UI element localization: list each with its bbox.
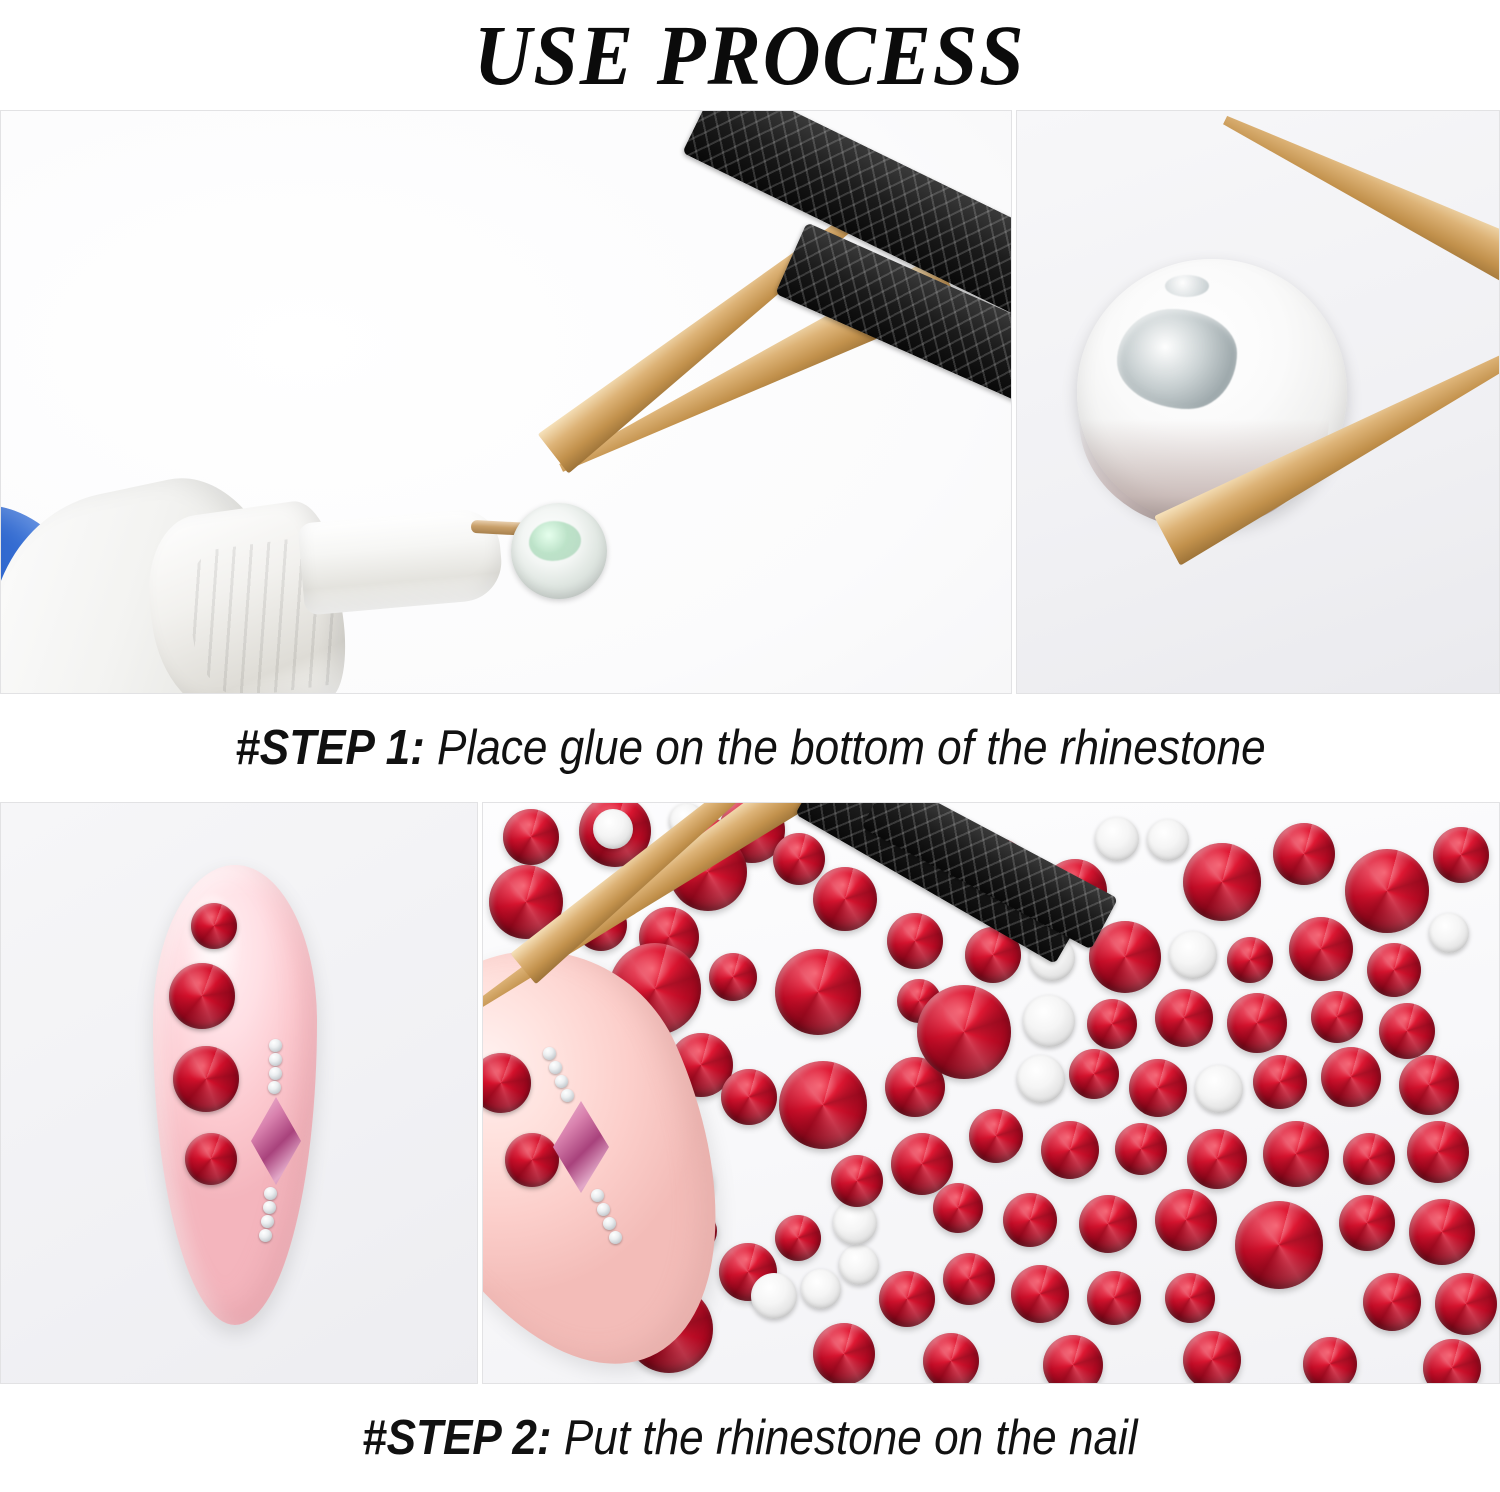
- scatter-rhinestone: [1115, 1123, 1167, 1175]
- scatter-rhinestone: [1155, 1189, 1217, 1251]
- scatter-rhinestone: [1187, 1129, 1247, 1189]
- scatter-rhinestone: [1079, 1195, 1137, 1253]
- scatter-rhinestone: [887, 913, 943, 969]
- scatter-rhinestone: [923, 1333, 979, 1384]
- nail-bead-2: [549, 1061, 562, 1074]
- scatter-rhinestone: [1363, 1273, 1421, 1331]
- nail-bead-8: [609, 1231, 622, 1244]
- scatter-rhinestone: [1129, 1059, 1187, 1117]
- scatter-rhinestone-back: [839, 1245, 879, 1285]
- scatter-rhinestone-back: [1195, 1065, 1243, 1113]
- scatter-rhinestone: [1407, 1121, 1469, 1183]
- scatter-rhinestone: [1263, 1121, 1329, 1187]
- scatter-rhinestone-back: [1147, 819, 1189, 861]
- scatter-rhinestone: [1399, 1055, 1459, 1115]
- scatter-rhinestone: [1289, 917, 1353, 981]
- scatter-rhinestone-back: [1429, 913, 1469, 953]
- finished-nail-photo: [0, 802, 478, 1384]
- scatter-rhinestone: [1379, 1003, 1435, 1059]
- scatter-rhinestone-back: [751, 1273, 797, 1319]
- scatter-rhinestone-back: [1095, 817, 1139, 861]
- scatter-rhinestone-back: [1017, 1055, 1065, 1103]
- scatter-rhinestone: [1041, 1121, 1099, 1179]
- scatter-rhinestone-back: [593, 809, 633, 849]
- scatter-rhinestone: [943, 1253, 995, 1305]
- nail-rhinestone-1: [191, 903, 237, 949]
- scatter-rhinestone: [1273, 823, 1335, 885]
- scatter-rhinestone: [933, 1183, 983, 1233]
- nail-bead-7: [603, 1217, 616, 1230]
- glue-blob-small: [1165, 275, 1209, 297]
- step-1-text: Place glue on the bottom of the rhinesto…: [424, 721, 1265, 775]
- scatter-rhinestone: [709, 953, 757, 1001]
- scatter-rhinestone: [1003, 1193, 1057, 1247]
- scatter-rhinestone: [1303, 1337, 1357, 1384]
- scatter-rhinestone: [779, 1061, 867, 1149]
- scatter-rhinestone: [1155, 989, 1213, 1047]
- nail-bead-1: [269, 1039, 282, 1052]
- nail-bead-6: [597, 1203, 610, 1216]
- scatter-rhinestone: [1345, 849, 1429, 933]
- scatter-rhinestone: [1069, 1049, 1119, 1099]
- scatter-rhinestone: [813, 867, 877, 931]
- nail-rhinestone-2: [169, 963, 235, 1029]
- scatter-rhinestone: [775, 949, 861, 1035]
- step-2-caption: #STEP 2: Put the rhinestone on the nail: [0, 1384, 1500, 1492]
- scatter-rhinestone: [879, 1271, 935, 1327]
- glue-applicator-photo: [0, 110, 1012, 694]
- scatter-rhinestone: [1235, 1201, 1323, 1289]
- nail-bead-4: [268, 1081, 281, 1094]
- scatter-rhinestone: [1339, 1195, 1395, 1251]
- step-1-photo-row: [0, 110, 1500, 694]
- rhinestones-scatter-photo: [482, 802, 1500, 1384]
- scatter-rhinestone: [1253, 1055, 1307, 1109]
- scatter-rhinestone: [775, 1215, 821, 1261]
- scatter-rhinestone: [917, 985, 1011, 1079]
- scatter-rhinestone: [813, 1323, 875, 1384]
- nail-bead-4: [561, 1089, 574, 1102]
- scatter-rhinestone: [831, 1155, 883, 1207]
- scatter-rhinestone: [503, 809, 559, 865]
- rhinestone-glue-closeup-photo: [1016, 110, 1500, 694]
- page-header: USE PROCESS: [0, 0, 1500, 110]
- step-1-label: #STEP 1:: [235, 721, 425, 775]
- nail-rhinestone-4: [185, 1133, 237, 1185]
- nail-bead-8: [259, 1229, 272, 1242]
- nail-bead-3: [555, 1075, 568, 1088]
- step-2-label: #STEP 2:: [362, 1411, 552, 1465]
- scatter-rhinestone: [1183, 1331, 1241, 1384]
- step-2-photo-row: [0, 802, 1500, 1384]
- nail-bead-5: [264, 1187, 277, 1200]
- scatter-rhinestone: [721, 1069, 777, 1125]
- scatter-rhinestone: [1227, 993, 1287, 1053]
- scatter-rhinestone: [1227, 937, 1273, 983]
- scatter-rhinestone: [1343, 1133, 1395, 1185]
- scatter-rhinestone: [773, 833, 825, 885]
- nail-bead-1: [543, 1047, 556, 1060]
- step-1-caption: #STEP 1: Place glue on the bottom of the…: [0, 694, 1500, 802]
- scatter-rhinestone: [1311, 991, 1363, 1043]
- nail-rhinestone-3: [173, 1046, 239, 1112]
- scatter-rhinestone: [1183, 843, 1261, 921]
- scatter-rhinestone: [1011, 1265, 1069, 1323]
- scatter-rhinestone: [1087, 999, 1137, 1049]
- nail-bead-3: [269, 1067, 282, 1080]
- scatter-rhinestone: [1087, 1271, 1141, 1325]
- nail-bead-6: [263, 1201, 276, 1214]
- scatter-rhinestone-back: [1169, 931, 1217, 979]
- page-title: USE PROCESS: [474, 12, 1026, 98]
- scatter-rhinestone: [1433, 827, 1489, 883]
- nail-bead-7: [261, 1215, 274, 1228]
- scatter-rhinestone-back: [1023, 995, 1075, 1047]
- nail-rhinestone-2: [505, 1133, 559, 1187]
- scatter-rhinestone: [891, 1133, 953, 1195]
- scatter-rhinestone: [1165, 1273, 1215, 1323]
- scatter-rhinestone: [1435, 1273, 1497, 1335]
- scatter-rhinestone: [1367, 943, 1421, 997]
- scatter-rhinestone: [969, 1109, 1023, 1163]
- step-2-text: Put the rhinestone on the nail: [552, 1411, 1138, 1465]
- scatter-rhinestone: [1409, 1199, 1475, 1265]
- nail-bead-5: [591, 1189, 604, 1202]
- scatter-rhinestone-back: [801, 1269, 841, 1309]
- nail-bead-2: [269, 1053, 282, 1066]
- scatter-rhinestone: [1321, 1047, 1381, 1107]
- scatter-rhinestone-back: [833, 1201, 877, 1245]
